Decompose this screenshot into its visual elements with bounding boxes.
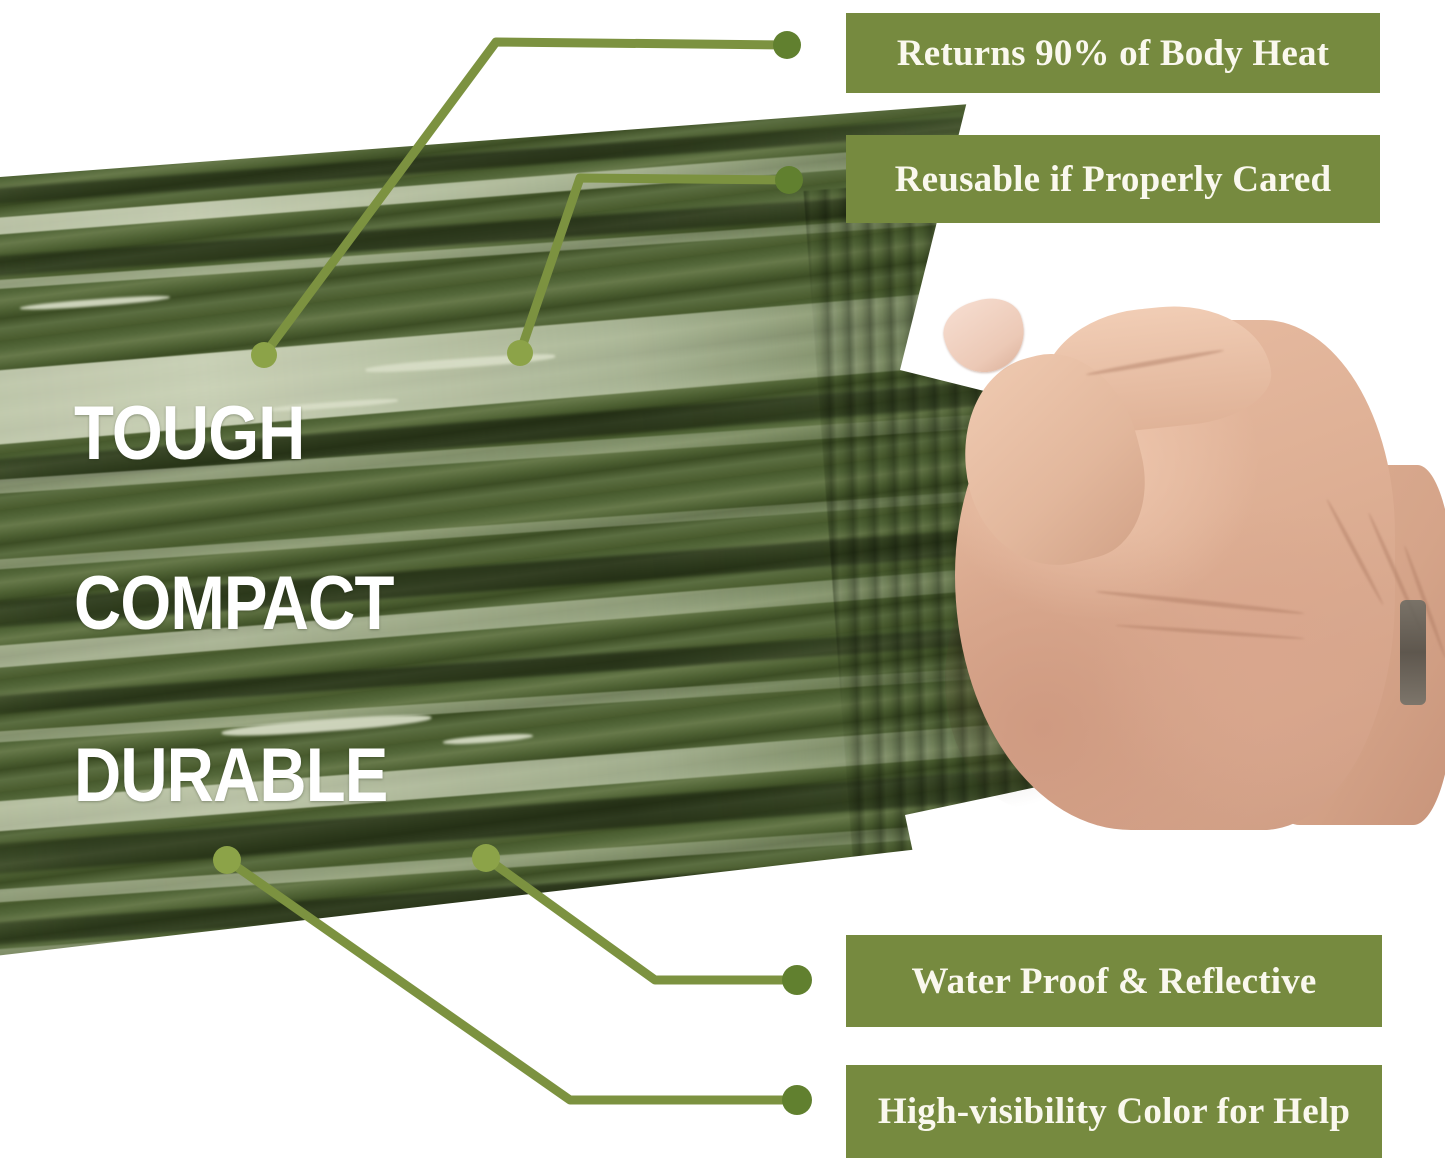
- overlay-word-durable: DURABLE: [74, 738, 388, 814]
- feature-label-returns-heat[interactable]: Returns 90% of Body Heat: [846, 13, 1380, 93]
- feature-label-water-proof[interactable]: Water Proof & Reflective: [846, 935, 1382, 1027]
- overlay-word-tough: TOUGH: [74, 396, 305, 472]
- feature-label-reusable[interactable]: Reusable if Properly Cared: [846, 135, 1380, 223]
- overlay-word-compact: COMPACT: [74, 566, 394, 642]
- feature-label-high-visibility[interactable]: High-visibility Color for Help: [846, 1065, 1382, 1158]
- wrist-tattoo: [1400, 600, 1426, 705]
- infographic-canvas: Returns 90% of Body Heat Reusable if Pro…: [0, 0, 1445, 1158]
- hand-gripping-product: [945, 300, 1445, 870]
